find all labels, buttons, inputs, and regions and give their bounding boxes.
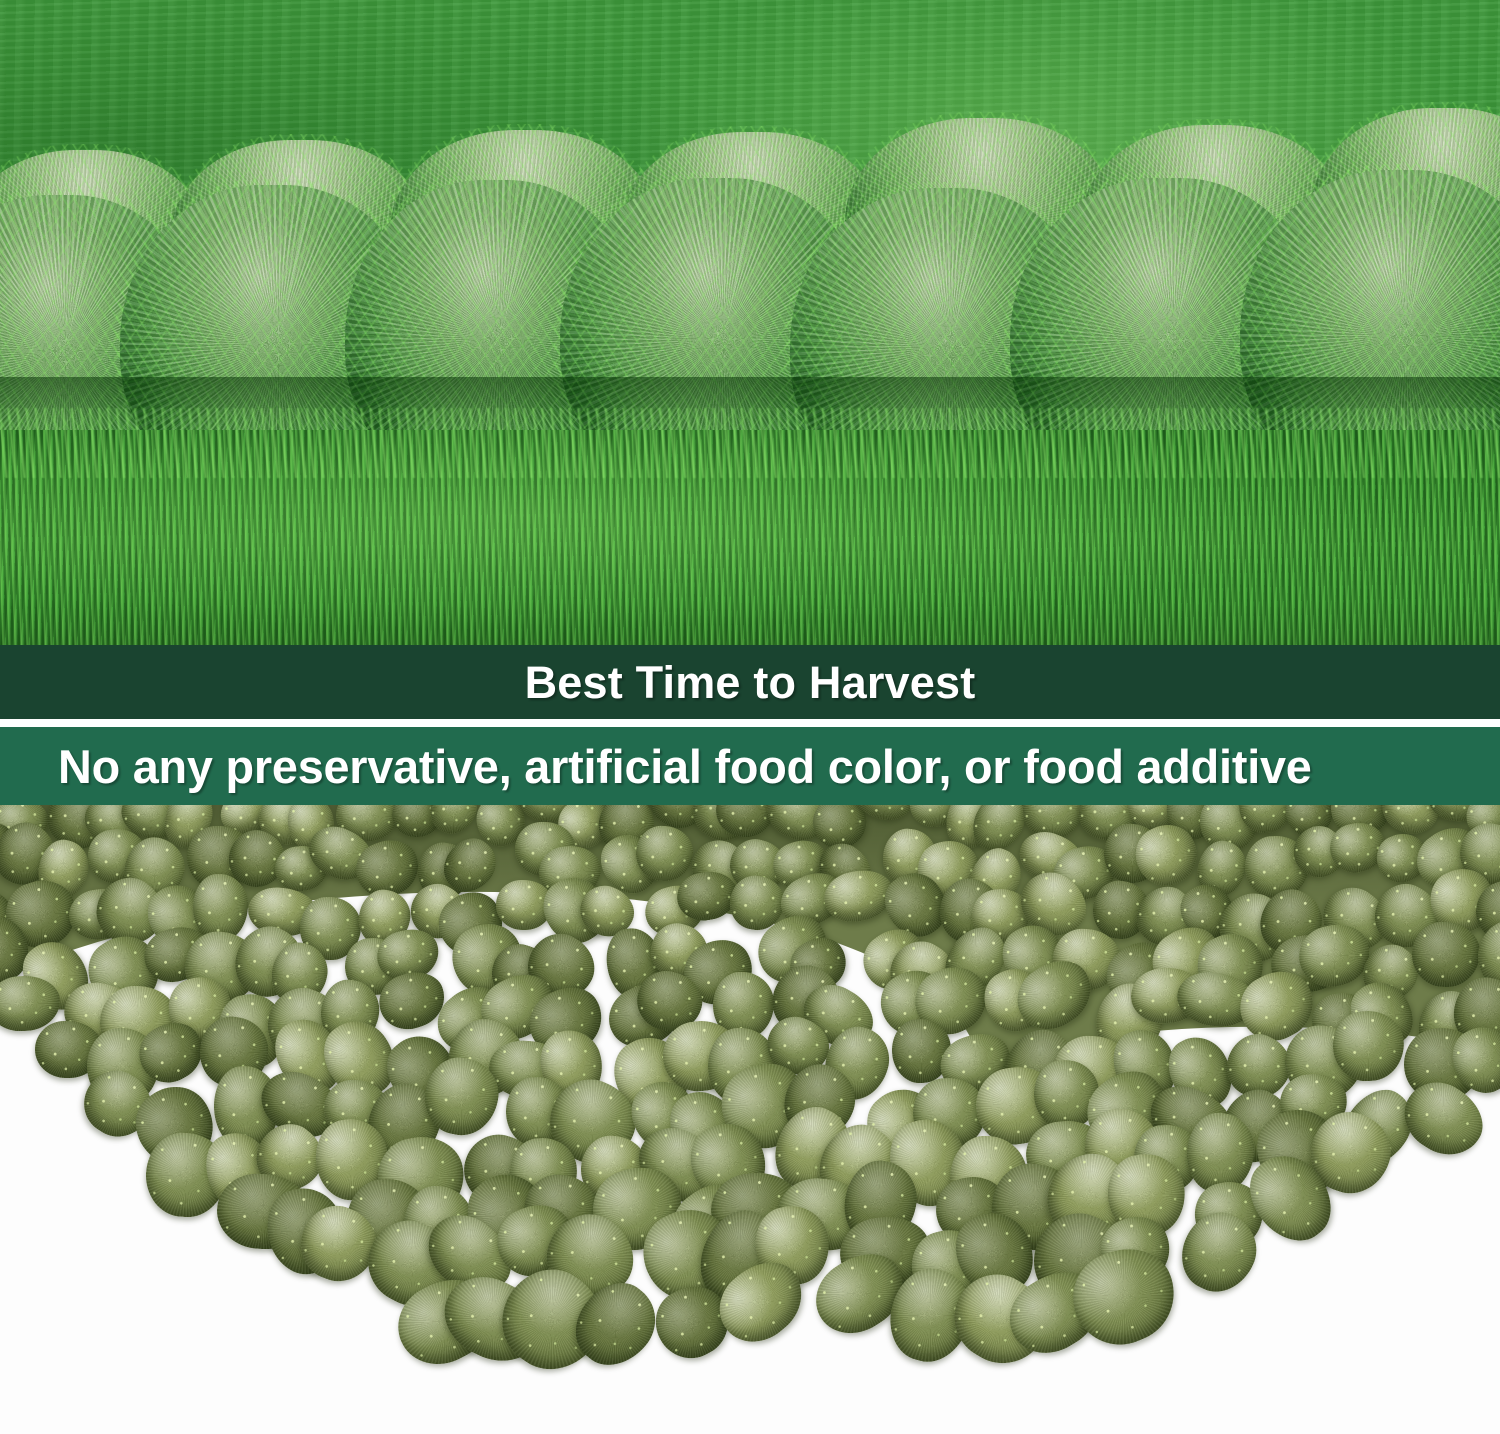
product-feature-panel: Best Time to Harvest No any preservative… [0,0,1500,1434]
hay-pellet [423,805,484,841]
hay-field-photo [0,0,1500,645]
pellet-layer [0,805,1500,1434]
no-additives-banner: No any preservative, artificial food col… [0,727,1500,805]
hay-pellet [1411,921,1481,988]
hay-pellets-photo [0,805,1500,1434]
no-additives-banner-text: No any preservative, artificial food col… [58,743,1312,790]
banner-separator [0,719,1500,727]
foreground-grass [0,430,1500,645]
harvest-banner-text: Best Time to Harvest [525,660,976,705]
harvest-banner: Best Time to Harvest [0,645,1500,719]
